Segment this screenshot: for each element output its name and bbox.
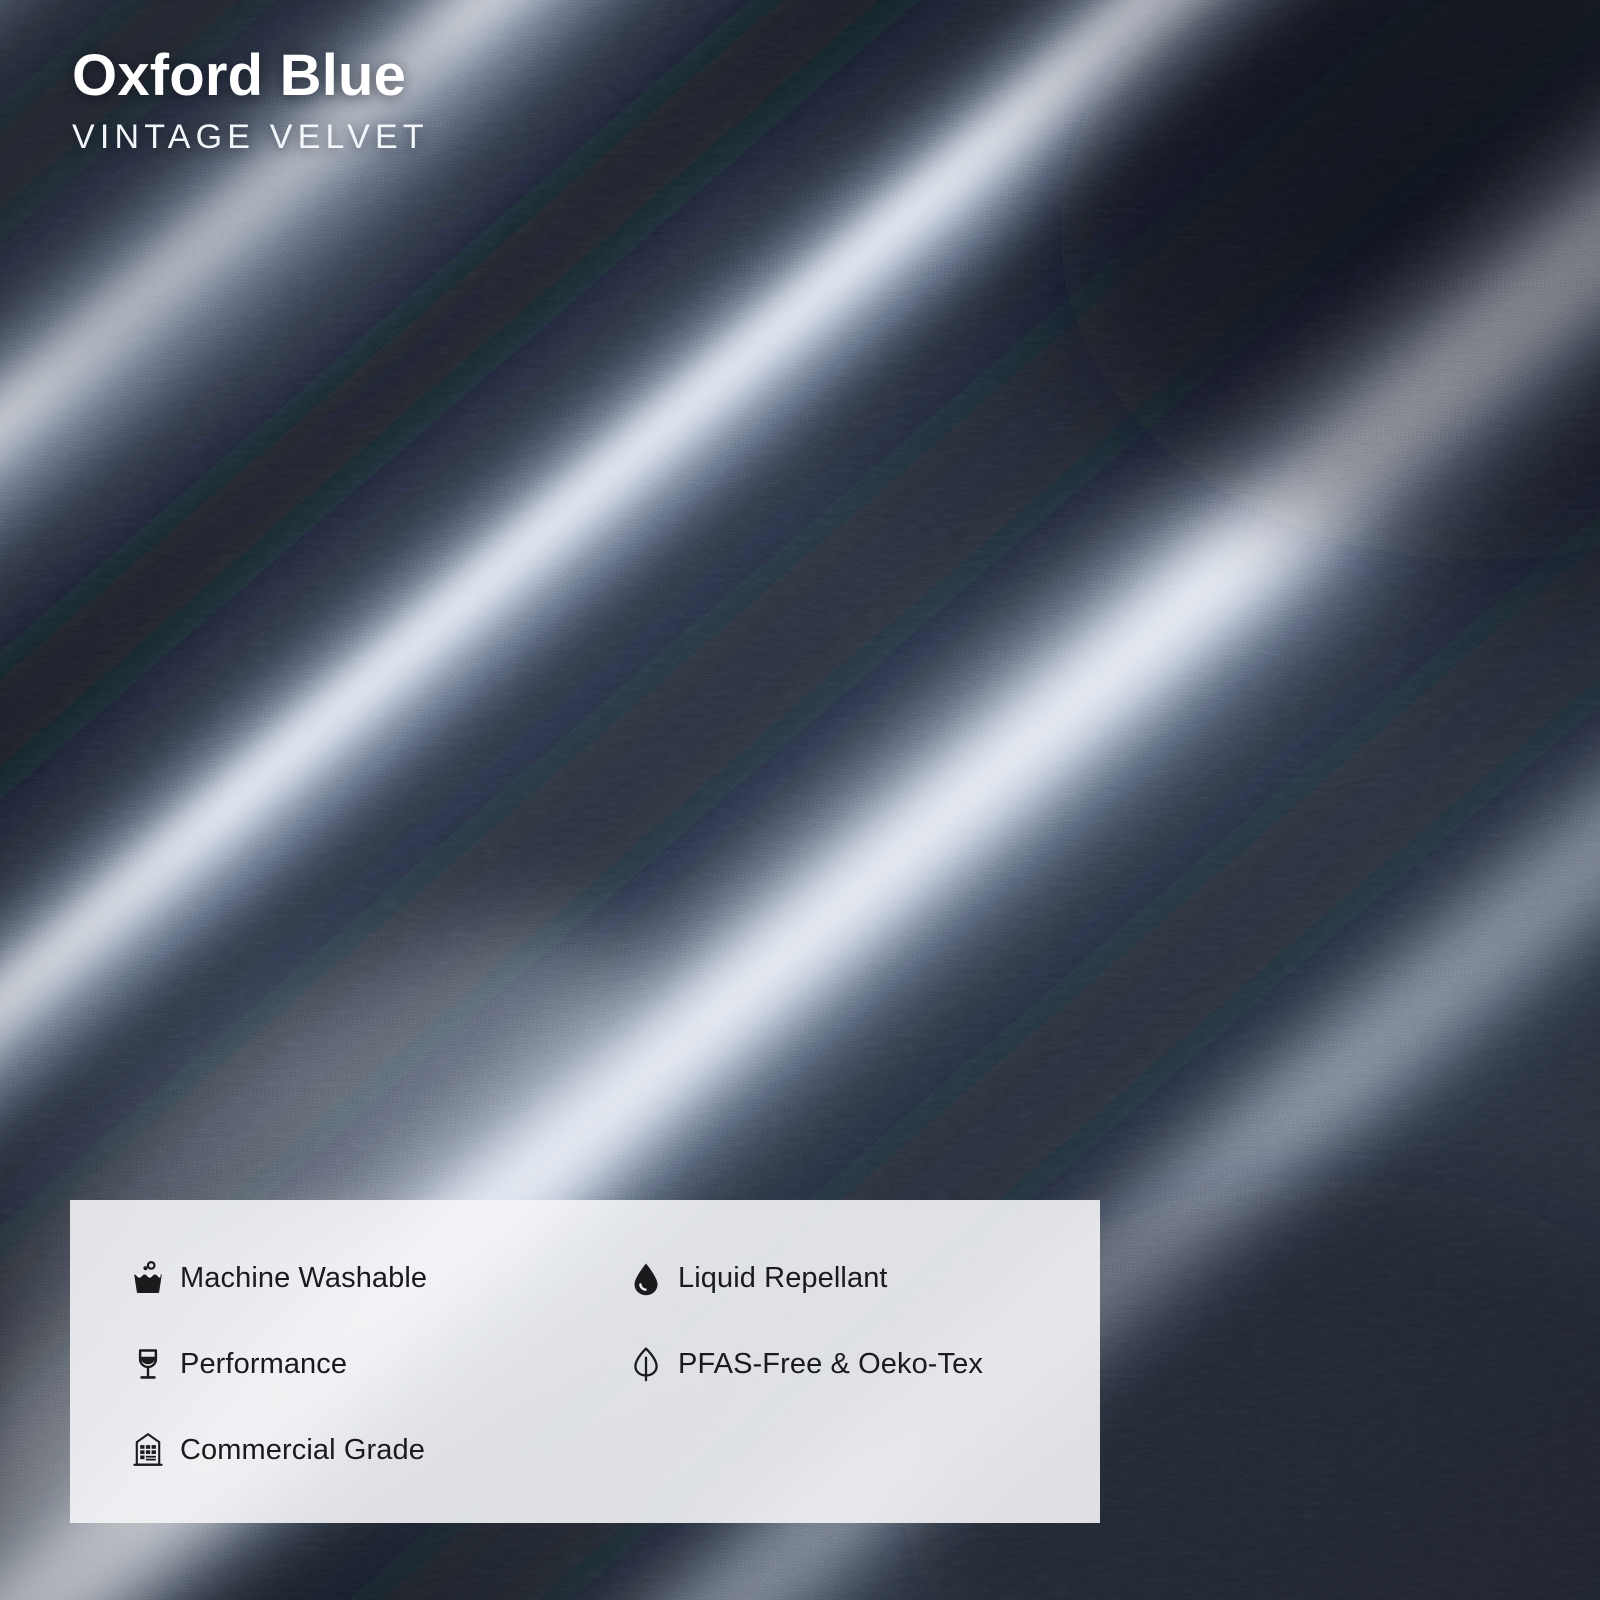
water-drop-icon — [614, 1259, 678, 1299]
feature-label: Performance — [180, 1348, 347, 1381]
building-icon — [116, 1430, 180, 1470]
feature-label: Liquid Repellant — [678, 1262, 888, 1295]
feature-commercial-grade: Commercial Grade — [116, 1407, 614, 1493]
wash-tub-icon — [116, 1259, 180, 1299]
feature-liquid-repellant: Liquid Repellant — [614, 1236, 1100, 1322]
page-subtitle: VINTAGE VELVET — [72, 120, 429, 156]
leaf-icon — [614, 1344, 678, 1384]
wine-glass-icon — [116, 1344, 180, 1384]
feature-machine-washable: Machine Washable — [116, 1236, 614, 1322]
feature-performance: Performance — [116, 1322, 614, 1408]
page-title: Oxford Blue — [72, 46, 429, 106]
product-swatch-image: Oxford Blue VINTAGE VELVET Machine Washa… — [0, 0, 1600, 1600]
feature-pfas-free-oeko-tex: PFAS-Free & Oeko-Tex — [614, 1322, 1100, 1408]
feature-panel: Machine Washable Liquid Repellant — [70, 1200, 1100, 1523]
title-block: Oxford Blue VINTAGE VELVET — [72, 46, 429, 156]
feature-label: Machine Washable — [180, 1262, 427, 1295]
feature-label: PFAS-Free & Oeko-Tex — [678, 1348, 983, 1381]
feature-label: Commercial Grade — [180, 1434, 425, 1467]
